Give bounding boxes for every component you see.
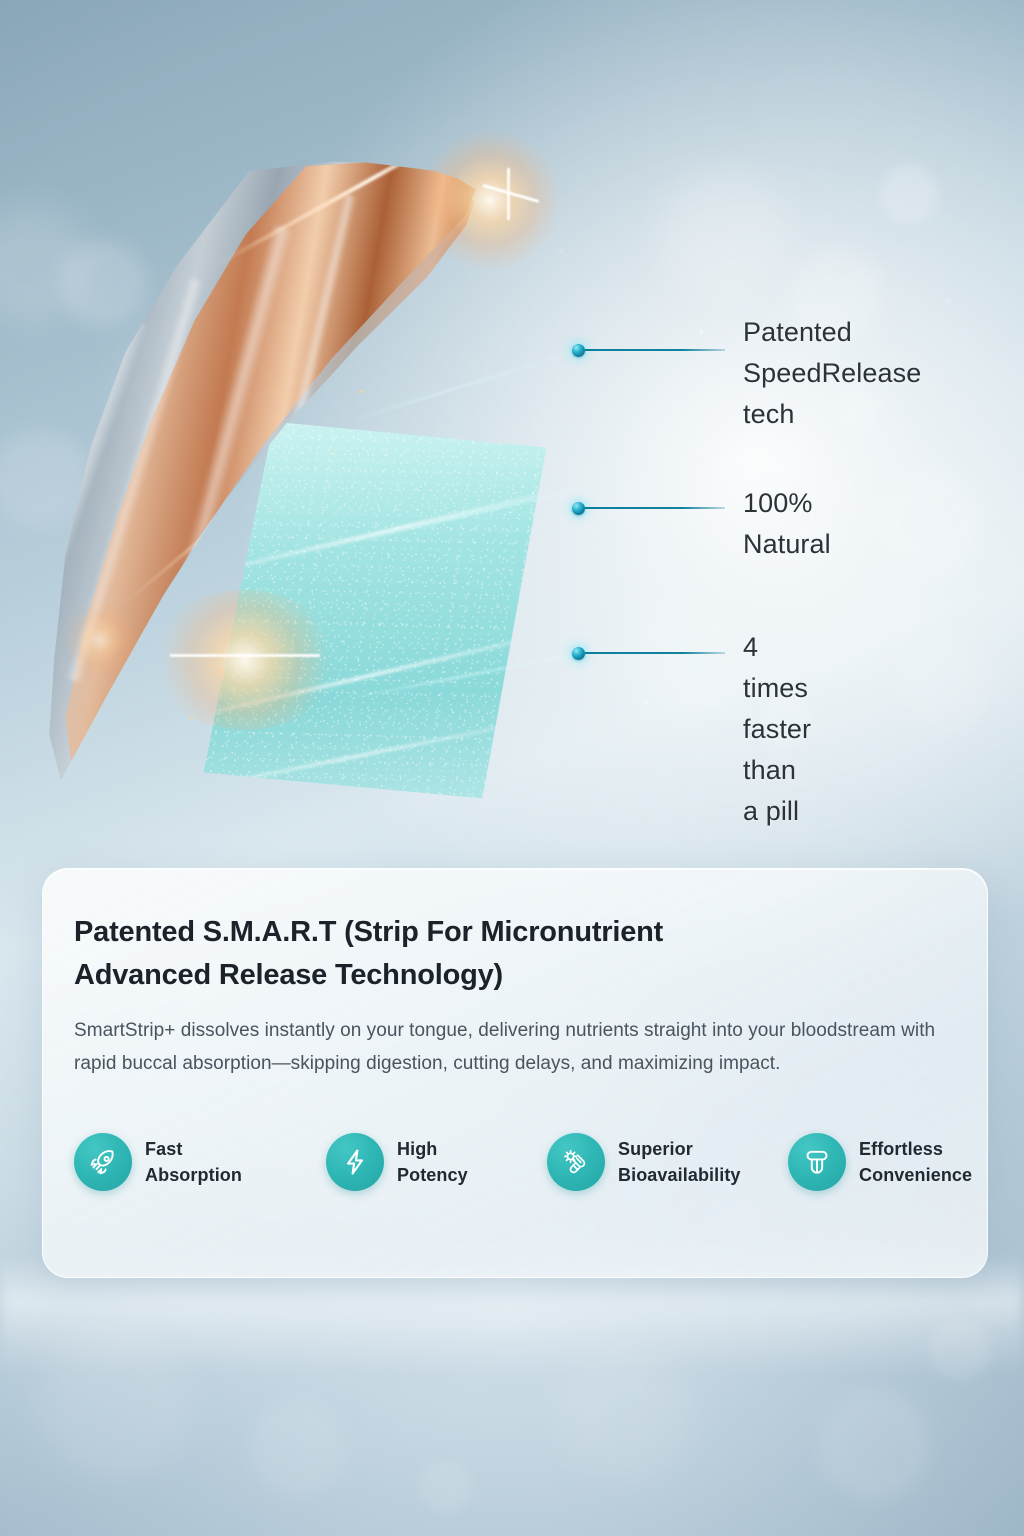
- callout-label: 100% Natural: [743, 483, 831, 565]
- callout-label: Patented SpeedRelease tech: [743, 312, 921, 435]
- feature-badge-superior-bioavailability[interactable]: Superior Bioavailability: [547, 1133, 741, 1191]
- badge-label: Fast Absorption: [145, 1136, 242, 1188]
- info-card: Patented S.M.A.R.T (Strip For Micronutri…: [42, 868, 988, 1278]
- callout-leader-line: [585, 349, 725, 351]
- rocket-icon: [74, 1133, 132, 1191]
- callout-dot-icon: [572, 344, 585, 357]
- tablet-strip-icon: [788, 1133, 846, 1191]
- card-description: SmartStrip+ dissolves instantly on your …: [74, 1014, 954, 1080]
- callout-dot-icon: [572, 647, 585, 660]
- callout-leader-line: [585, 507, 725, 509]
- feature-badge-high-potency[interactable]: High Potency: [326, 1133, 468, 1191]
- card-title: Patented S.M.A.R.T (Strip For Micronutri…: [74, 911, 904, 997]
- badge-label: High Potency: [397, 1136, 468, 1188]
- callout-dot-icon: [572, 502, 585, 515]
- feature-badge-list: Fast Absorption High Potency: [74, 1133, 964, 1205]
- lightning-bolt-icon: [326, 1133, 384, 1191]
- callout-leader-line: [585, 652, 725, 654]
- callout-label: 4 times faster than a pill: [743, 627, 811, 832]
- feature-badge-effortless-convenience[interactable]: Effortless Convenience: [788, 1133, 972, 1191]
- callout-annotations: Patented SpeedRelease tech 100% Natural …: [0, 0, 1024, 1536]
- badge-label: Superior Bioavailability: [618, 1136, 741, 1188]
- feature-badge-fast-absorption[interactable]: Fast Absorption: [74, 1133, 242, 1191]
- bioavailability-icon: [547, 1133, 605, 1191]
- badge-label: Effortless Convenience: [859, 1136, 972, 1188]
